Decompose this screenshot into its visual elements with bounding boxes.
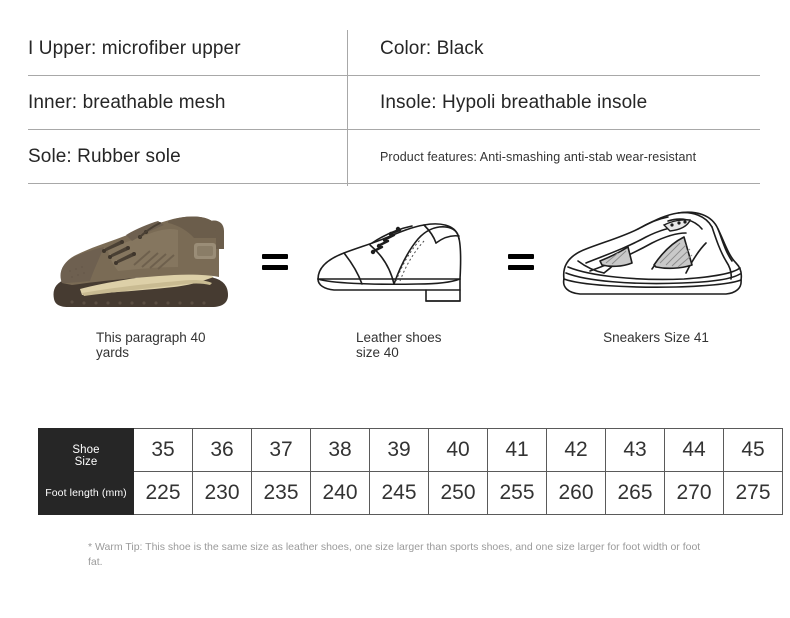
cell-foot-length: 245 [370, 472, 429, 515]
cell-shoe-size: 39 [370, 429, 429, 472]
cell-foot-length: 270 [665, 472, 724, 515]
row-header-shoe-size: ShoeSize [39, 429, 134, 472]
sneaker-icon [556, 203, 756, 328]
sneaker-illustration [548, 200, 764, 330]
cell-shoe-size: 38 [311, 429, 370, 472]
comparison-item-leather-shoe: Leather shoessize 40 [300, 200, 516, 360]
spec-insole-text: Insole: Hypoli breathable insole [380, 92, 647, 114]
cell-shoe-size: 43 [606, 429, 665, 472]
comparison-item-sneaker: Sneakers Size 41 [548, 200, 764, 345]
shoe-size-table: ShoeSize 35 36 37 38 39 40 41 42 43 44 4… [38, 428, 783, 515]
cell-foot-length: 260 [547, 472, 606, 515]
spec-cell-sole: Sole: Rubber sole [28, 130, 344, 184]
comparison-label-sneaker: Sneakers Size 41 [548, 330, 764, 345]
spec-sole-text: Sole: Rubber sole [28, 146, 181, 168]
comparison-label-leather-shoe: Leather shoessize 40 [300, 330, 516, 360]
specification-table: I Upper: microfiber upper Color: Black I… [28, 22, 760, 184]
comparison-label-work-boot: This paragraph 40yards [34, 330, 250, 360]
equals-bar-bottom [262, 265, 288, 270]
cell-foot-length: 235 [252, 472, 311, 515]
equals-sign-2 [508, 254, 534, 276]
spec-cell-features: Product features: Anti-smashing anti-sta… [380, 130, 760, 184]
cell-shoe-size: 35 [134, 429, 193, 472]
cell-shoe-size: 40 [429, 429, 488, 472]
spec-upper-text: I Upper: microfiber upper [28, 38, 241, 60]
work-boot-icon [42, 205, 242, 325]
cell-shoe-size: 45 [724, 429, 783, 472]
size-comparison-strip: This paragraph 40yards [0, 200, 790, 380]
cell-shoe-size: 42 [547, 429, 606, 472]
spec-cell-insole: Insole: Hypoli breathable insole [380, 76, 760, 130]
spec-features-text: Product features: Anti-smashing anti-sta… [380, 150, 696, 164]
spec-color-text: Color: Black [380, 38, 484, 60]
cell-foot-length: 255 [488, 472, 547, 515]
cell-foot-length: 225 [134, 472, 193, 515]
cell-shoe-size: 36 [193, 429, 252, 472]
cell-foot-length: 275 [724, 472, 783, 515]
spec-cell-inner: Inner: breathable mesh [28, 76, 344, 130]
spec-row: Sole: Rubber sole Product features: Anti… [28, 130, 760, 184]
spec-cell-color: Color: Black [380, 22, 760, 76]
spec-row: I Upper: microfiber upper Color: Black [28, 22, 760, 76]
equals-bar-bottom [508, 265, 534, 270]
spec-vertical-divider [347, 30, 348, 186]
comparison-item-work-boot: This paragraph 40yards [34, 200, 250, 360]
table-row-foot-length: Foot length (mm) 225 230 235 240 245 250… [39, 472, 783, 515]
leather-shoe-illustration [300, 200, 516, 330]
equals-sign-1 [262, 254, 288, 276]
cell-shoe-size: 37 [252, 429, 311, 472]
row-header-foot-length: Foot length (mm) [39, 472, 134, 515]
cell-shoe-size: 44 [665, 429, 724, 472]
work-boot-illustration [34, 200, 250, 330]
equals-bar-top [262, 254, 288, 259]
cell-shoe-size: 41 [488, 429, 547, 472]
equals-bar-top [508, 254, 534, 259]
spec-inner-text: Inner: breathable mesh [28, 92, 226, 114]
leather-shoe-icon [308, 205, 508, 325]
cell-foot-length: 240 [311, 472, 370, 515]
spec-row: Inner: breathable mesh Insole: Hypoli br… [28, 76, 760, 130]
cell-foot-length: 230 [193, 472, 252, 515]
warm-tip-footnote: * Warm Tip: This shoe is the same size a… [88, 540, 706, 570]
table-row-shoe-size: ShoeSize 35 36 37 38 39 40 41 42 43 44 4… [39, 429, 783, 472]
spec-cell-upper: I Upper: microfiber upper [28, 22, 344, 76]
cell-foot-length: 265 [606, 472, 665, 515]
cell-foot-length: 250 [429, 472, 488, 515]
